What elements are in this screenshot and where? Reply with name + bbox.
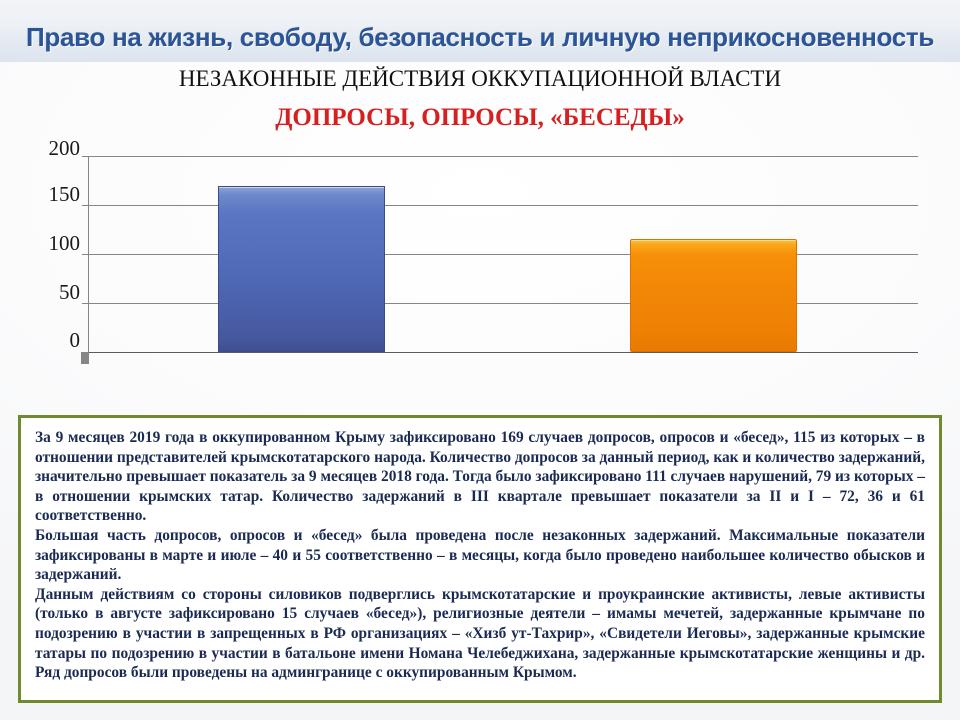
gridline-200 <box>88 156 918 157</box>
y-tick-label-100: 100 <box>12 233 80 254</box>
y-tick-label-200: 200 <box>12 138 80 159</box>
bar-fill-1 <box>630 239 797 352</box>
y-tick-mark-200 <box>82 156 88 157</box>
y-tick-mark-50 <box>82 303 88 304</box>
bar-series-0[interactable] <box>218 186 385 352</box>
chart-title-main: НЕЗАКОННЫЕ ДЕЙСТВИЯ ОККУПАЦИОННОЙ ВЛАСТИ <box>0 66 960 92</box>
gridline-150 <box>88 205 918 206</box>
y-tick-mark-0 <box>81 352 89 364</box>
bar-series-1[interactable] <box>630 239 797 352</box>
y-tick-label-0: 0 <box>12 330 80 351</box>
commentary-paragraph-1: За 9 месяцев 2019 года в оккупированном … <box>35 428 925 526</box>
commentary-text-box: За 9 месяцев 2019 года в оккупированном … <box>18 415 942 703</box>
y-tick-label-150: 150 <box>12 184 80 205</box>
bar-fill-0 <box>218 186 385 352</box>
gridline-0 <box>88 352 918 353</box>
page-title: Право на жизнь, свободу, безопасность и … <box>0 22 960 53</box>
y-tick-label-50: 50 <box>12 282 80 303</box>
y-tick-mark-100 <box>82 254 88 255</box>
bar-chart: 200 150 100 50 0 Общее количество наруше… <box>0 138 960 418</box>
header-banner: Право на жизнь, свободу, безопасность и … <box>0 0 960 62</box>
commentary-paragraph-2: Большая часть допросов, опросов и «бесед… <box>35 526 925 585</box>
chart-title-sub: ДОПРОСЫ, ОПРОСЫ, «БЕСЕДЫ» <box>0 104 960 132</box>
y-tick-mark-150 <box>82 205 88 206</box>
y-axis-labels: 200 150 100 50 0 <box>8 138 80 418</box>
commentary-paragraph-3: Данным действиям со стороны силовиков по… <box>35 585 925 683</box>
